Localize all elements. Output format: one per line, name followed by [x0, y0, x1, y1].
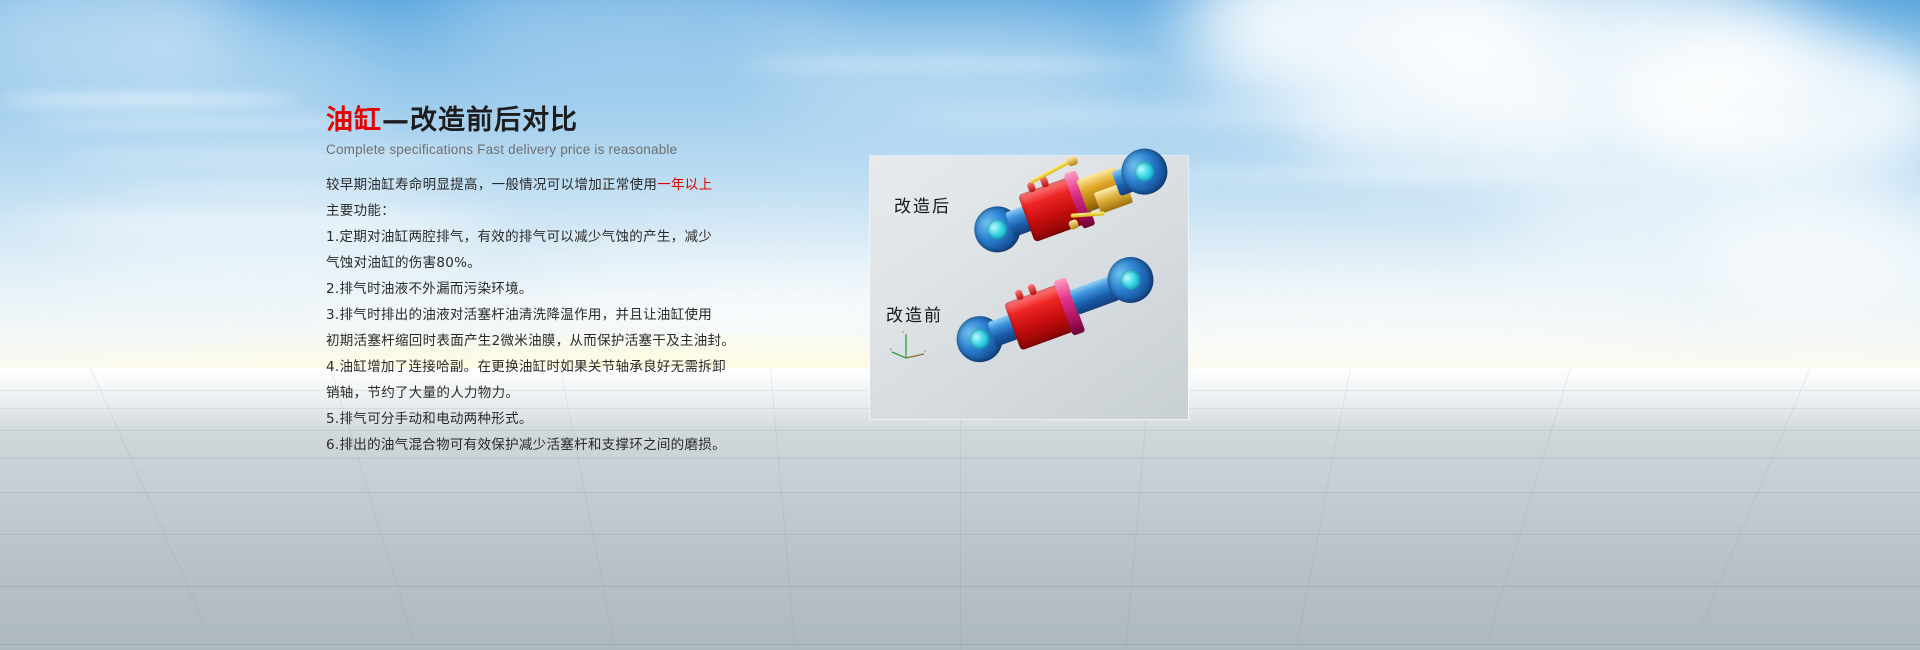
feature-line: 初期活塞杆缩回时表面产生2微米油膜，从而保护活塞干及主油封。	[326, 329, 746, 354]
banner-text-block: 油缸—改造前后对比 Complete specifications Fast d…	[326, 104, 746, 459]
feature-line-text: 初期活塞杆缩回时表面产生2微米油膜，从而保护活塞干及主油封。	[326, 333, 735, 349]
page-title: 油缸—改造前后对比	[326, 104, 746, 138]
feature-line-text: 气蚀对油缸的伤害80%。	[326, 255, 481, 271]
feature-line: 4.油缸增加了连接哈副。在更换油缸时如果关节轴承良好无需拆卸	[326, 355, 746, 380]
feature-line-text: 较早期油缸寿命明显提高，一般情况可以增加正常使用	[326, 177, 657, 193]
page-subtitle: Complete specifications Fast delivery pr…	[326, 142, 746, 157]
feature-line: 5.排气可分手动和电动两种形式。	[326, 407, 746, 432]
coordinate-axis-icon: z y x	[890, 328, 930, 362]
svg-text:y: y	[890, 346, 892, 351]
cloud-streak	[0, 96, 300, 105]
feature-list: 较早期油缸寿命明显提高，一般情况可以增加正常使用一年以上主要功能：1.定期对油缸…	[326, 173, 746, 458]
feature-line: 较早期油缸寿命明显提高，一般情况可以增加正常使用一年以上	[326, 173, 746, 198]
cloud-streak	[1150, 170, 1670, 179]
feature-line-text: 5.排气可分手动和电动两种形式。	[326, 411, 533, 427]
vent-valve	[1066, 155, 1078, 167]
cloud-streak	[740, 60, 1160, 68]
feature-line: 3.排气时排出的油液对活塞杆油清洗降温作用，并且让油缸使用	[326, 303, 746, 328]
title-highlight: 油缸	[326, 105, 382, 136]
label-before-modification: 改造前	[886, 301, 943, 326]
feature-line: 2.排气时油液不外漏而污染环境。	[326, 277, 746, 302]
cloud-streak	[900, 110, 1420, 122]
svg-text:z: z	[902, 329, 904, 334]
feature-line: 主要功能：	[326, 199, 746, 224]
feature-line: 1.定期对油缸两腔排气，有效的排气可以减少气蚀的产生，减少	[326, 225, 746, 250]
feature-line: 6.排出的油气混合物可有效保护减少活塞杆和支撑环之间的磨损。	[326, 433, 746, 458]
feature-line-highlight: 一年以上	[657, 177, 712, 193]
feature-line: 销轴，节约了大量的人力物力。	[326, 381, 746, 406]
feature-line: 气蚀对油缸的伤害80%。	[326, 251, 746, 276]
feature-line-text: 3.排气时排出的油液对活塞杆油清洗降温作用，并且让油缸使用	[326, 307, 712, 323]
cloud-shape	[1300, 70, 1600, 180]
feature-line-text: 2.排气时油液不外漏而污染环境。	[326, 281, 533, 297]
hero-banner: 油缸—改造前后对比 Complete specifications Fast d…	[0, 0, 1920, 650]
label-after-modification: 改造后	[894, 192, 951, 217]
cylinder-assembly-before	[946, 242, 1168, 381]
feature-line-text: 销轴，节约了大量的人力物力。	[326, 385, 519, 401]
cloud-shape	[120, 10, 380, 100]
product-comparison-panel: 改造后 改造前 z y x	[870, 156, 1188, 419]
feature-line-text: 4.油缸增加了连接哈副。在更换油缸时如果关节轴承良好无需拆卸	[326, 359, 726, 375]
feature-line-text: 1.定期对油缸两腔排气，有效的排气可以减少气蚀的产生，减少	[326, 229, 712, 245]
feature-line-text: 6.排出的油气混合物可有效保护减少活塞杆和支撑环之间的磨损。	[326, 437, 726, 453]
svg-text:x: x	[924, 348, 926, 353]
title-rest: —改造前后对比	[382, 105, 578, 136]
feature-line-text: 主要功能：	[326, 203, 395, 219]
